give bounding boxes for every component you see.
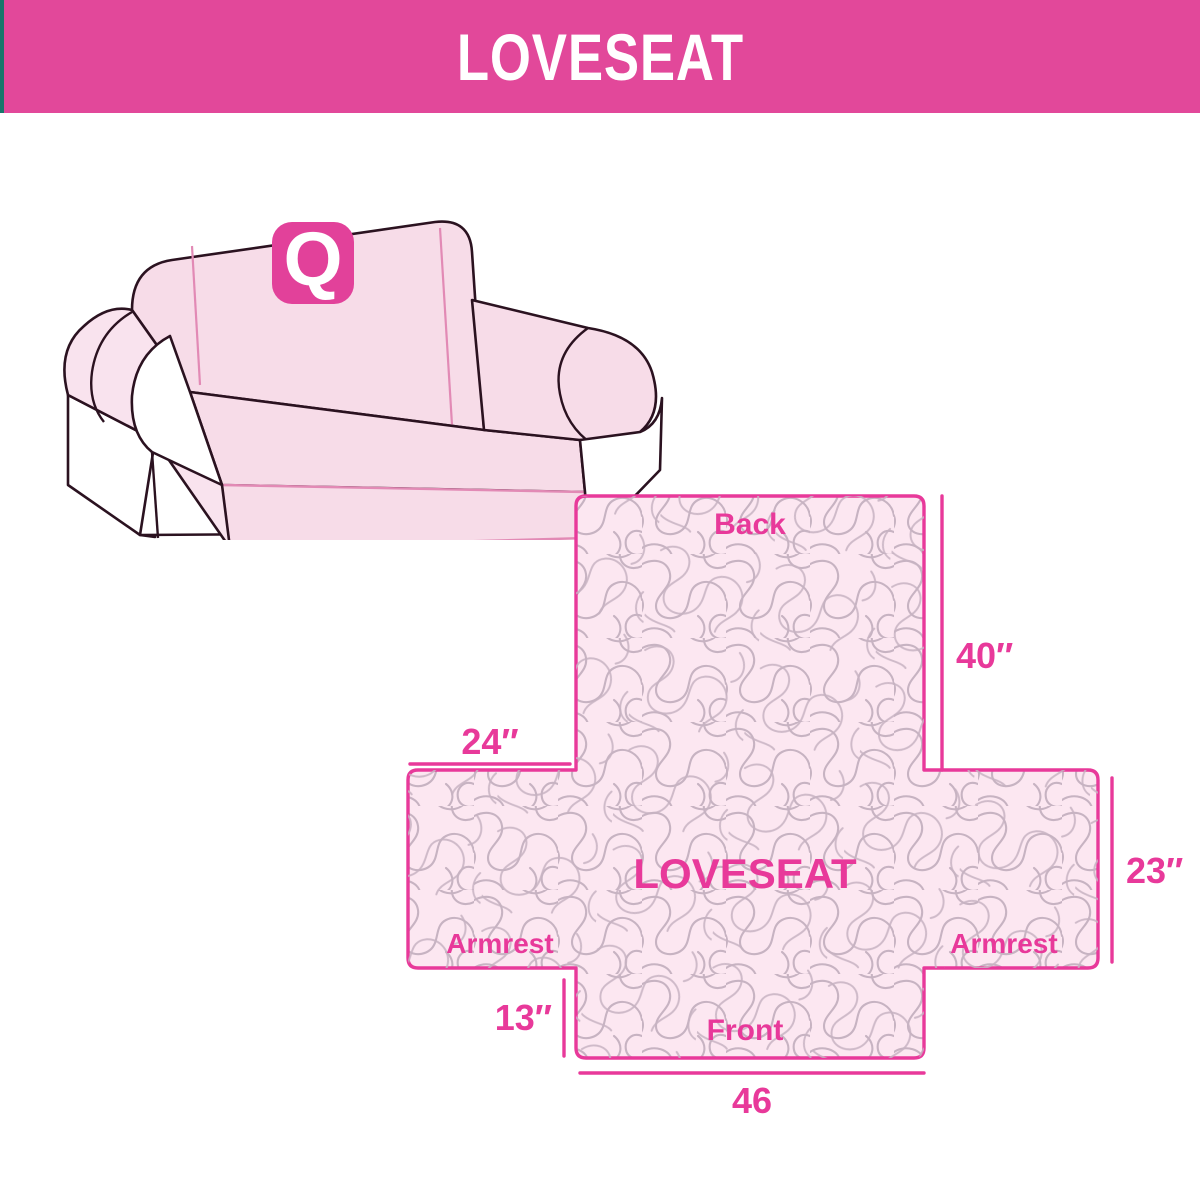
page-title: LOVESEAT [456,24,743,90]
header-edge-strip [0,0,4,113]
dimension-front-height: 13″ [495,980,564,1056]
header-banner: LOVESEAT [0,0,1200,113]
cover-shape-group [408,496,1098,1058]
dimension-back-height: 40″ [942,496,1013,770]
dimension-value-24: 24″ [461,721,518,762]
dimension-value-13: 13″ [495,997,552,1038]
sofa-right-arm-cover [472,300,656,445]
dimension-total-width: 46 [580,1073,924,1121]
brand-logo: Q [272,217,354,304]
cover-quilt-overlay [408,496,1098,1058]
panel-label-armrest-right: Armrest [950,928,1057,959]
panel-label-armrest-left: Armrest [446,928,553,959]
cover-diagram-svg: Back LOVESEAT Armrest Armrest Front 40″ … [390,470,1190,1130]
dimension-value-40: 40″ [956,635,1013,676]
dimension-value-46: 46 [732,1080,772,1121]
panel-label-back: Back [714,508,786,541]
dimension-armrest-height: 23″ [1112,778,1183,962]
logo-letter: Q [283,217,342,302]
panel-label-front: Front [707,1014,784,1047]
cover-dimension-diagram: Back LOVESEAT Armrest Armrest Front 40″ … [390,470,1190,1130]
dimension-value-23: 23″ [1126,850,1183,891]
panel-label-center: LOVESEAT [633,850,857,897]
dimension-armrest-width: 24″ [410,721,570,764]
